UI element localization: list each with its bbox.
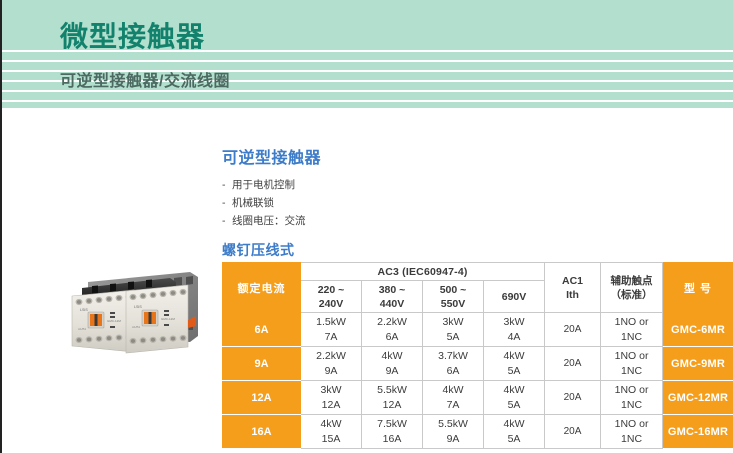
table-row: 16A 4kW 15A 7.5kW 16A 5.5kW 9A 4kW 5A 20 xyxy=(223,415,733,449)
cell-kw: 2.2kW xyxy=(301,349,361,364)
cell-ac3-380: 2.2kW 6A xyxy=(362,313,423,347)
list-item: -线圈电压：交流 xyxy=(222,213,542,229)
svg-text:LSIS: LSIS xyxy=(80,308,88,312)
cell-kw: 1.5kW xyxy=(301,315,361,330)
header-ac3-group: AC3 (IEC60947-4) xyxy=(301,263,545,281)
cell-rated-current: 16A xyxy=(223,415,301,449)
cell-ac3-500: 5.5kW 9A xyxy=(423,415,484,449)
svg-text:A1/B1: A1/B1 xyxy=(78,327,87,331)
cell-ac3-220: 4kW 15A xyxy=(301,415,362,449)
product-description-block: 可逆型接触器 -用于电机控制 -机械联锁 -线圈电压：交流 xyxy=(222,148,542,231)
cell-ac1: 20A xyxy=(545,313,601,347)
svg-text:LSIS: LSIS xyxy=(134,305,142,309)
cell-ac1: 20A xyxy=(545,381,601,415)
cell-kw: 3.7kW xyxy=(423,349,483,364)
header-ac1-line1: AC1 xyxy=(545,274,600,288)
cell-amp: 7A xyxy=(301,330,361,345)
header-model: 型 号 xyxy=(663,263,733,313)
header-ac1: AC1 Ith xyxy=(545,263,601,313)
bullet-dash-icon: - xyxy=(222,177,232,193)
cell-ac3-220: 1.5kW 7A xyxy=(301,313,362,347)
cell-model: GMC-16MR xyxy=(663,415,733,449)
page-subtitle: 可逆型接触器/交流线圈 xyxy=(60,71,230,93)
cell-kw: 4kW xyxy=(423,383,483,398)
svg-text:A1/B1: A1/B1 xyxy=(132,325,141,329)
table-section-heading: 螺钉压线式 xyxy=(222,240,295,260)
cell-amp: 5A xyxy=(484,398,544,413)
bullet-dash-icon: - xyxy=(222,213,232,229)
cell-aux-line1: 1NO or xyxy=(601,417,662,432)
cell-amp: 5A xyxy=(423,330,483,345)
cell-kw: 5.5kW xyxy=(362,383,422,398)
cell-kw: 3kW xyxy=(484,315,544,330)
cell-ac3-500: 3kW 5A xyxy=(423,313,484,347)
page-header-band: 微型接触器 可逆型接触器/交流线圈 xyxy=(2,0,733,108)
cell-aux-line2: 1NC xyxy=(601,398,662,413)
contactor-right: LSIS GMC-12M A1/B1 xyxy=(126,285,196,353)
header-v380-line2: 440V xyxy=(362,297,422,311)
header-aux-line2: （标准） xyxy=(601,288,662,302)
cell-ac1: 20A xyxy=(545,415,601,449)
cell-ac3-690: 4kW 5A xyxy=(484,415,545,449)
cell-amp: 9A xyxy=(423,432,483,447)
cell-amp: 6A xyxy=(362,330,422,345)
header-aux-contacts: 辅助触点 （标准） xyxy=(601,263,663,313)
header-voltage-380-440: 380 ~ 440V xyxy=(362,281,423,313)
cell-ac3-690: 4kW 5A xyxy=(484,347,545,381)
header-voltage-690: 690V xyxy=(484,281,545,313)
cell-kw: 2.2kW xyxy=(362,315,422,330)
cell-aux-line2: 1NC xyxy=(601,364,662,379)
svg-text:GMC-12M: GMC-12M xyxy=(161,317,175,321)
cell-ac3-690: 3kW 4A xyxy=(484,313,545,347)
cell-ac3-380: 5.5kW 12A xyxy=(362,381,423,415)
header-v500-line1: 500 ~ xyxy=(423,283,483,297)
section-heading: 可逆型接触器 xyxy=(222,148,542,170)
header-v500-line2: 550V xyxy=(423,297,483,311)
cell-kw: 4kW xyxy=(484,349,544,364)
cell-rated-current: 9A xyxy=(223,347,301,381)
cell-ac3-380: 4kW 9A xyxy=(362,347,423,381)
table-row: 6A 1.5kW 7A 2.2kW 6A 3kW 5A 3kW 4A 20A xyxy=(223,313,733,347)
cell-kw: 3kW xyxy=(301,383,361,398)
cell-amp: 9A xyxy=(301,364,361,379)
cell-aux-line1: 1NO or xyxy=(601,349,662,364)
cell-amp: 15A xyxy=(301,432,361,447)
left-edge-rule xyxy=(0,0,2,453)
cell-kw: 4kW xyxy=(484,417,544,432)
cell-amp: 7A xyxy=(423,398,483,413)
cell-kw: 4kW xyxy=(362,349,422,364)
cell-rated-current: 12A xyxy=(223,381,301,415)
cell-aux-contacts: 1NO or 1NC xyxy=(601,347,663,381)
cell-amp: 6A xyxy=(423,364,483,379)
cell-amp: 16A xyxy=(362,432,422,447)
cell-kw: 4kW xyxy=(484,383,544,398)
cell-kw: 4kW xyxy=(301,417,361,432)
contactor-left: LSIS GMC-12M A1/B1 xyxy=(72,290,134,352)
specification-table: 额定电流 AC3 (IEC60947-4) AC1 Ith 辅助触点 （标准） … xyxy=(222,262,733,449)
table-row: 9A 2.2kW 9A 4kW 9A 3.7kW 6A 4kW 5A 20A xyxy=(223,347,733,381)
cell-amp: 5A xyxy=(484,432,544,447)
cell-aux-line1: 1NO or xyxy=(601,383,662,398)
cell-aux-contacts: 1NO or 1NC xyxy=(601,415,663,449)
table-header: 额定电流 AC3 (IEC60947-4) AC1 Ith 辅助触点 （标准） … xyxy=(223,263,733,313)
table-header-row-top: 额定电流 AC3 (IEC60947-4) AC1 Ith 辅助触点 （标准） … xyxy=(223,263,733,281)
cell-ac3-220: 3kW 12A xyxy=(301,381,362,415)
cell-amp: 4A xyxy=(484,330,544,345)
cell-model: GMC-9MR xyxy=(663,347,733,381)
cell-aux-line1: 1NO or xyxy=(601,315,662,330)
cell-amp: 9A xyxy=(362,364,422,379)
list-item-label: 用于电机控制 xyxy=(232,179,295,191)
cell-ac3-500: 4kW 7A xyxy=(423,381,484,415)
cell-amp: 12A xyxy=(301,398,361,413)
page-title: 微型接触器 xyxy=(60,20,205,54)
header-v380-line1: 380 ~ xyxy=(362,283,422,297)
header-voltage-220-240: 220 ~ 240V xyxy=(301,281,362,313)
cell-ac3-220: 2.2kW 9A xyxy=(301,347,362,381)
cell-kw: 3kW xyxy=(423,315,483,330)
header-voltage-500-550: 500 ~ 550V xyxy=(423,281,484,313)
product-photo: LSIS GMC-12M A1/B1 xyxy=(66,266,218,358)
cell-model: GMC-12MR xyxy=(663,381,733,415)
cell-model: GMC-6MR xyxy=(663,313,733,347)
header-v220-line2: 240V xyxy=(301,297,361,311)
header-ac1-line2: Ith xyxy=(545,288,600,302)
header-rated-current: 额定电流 xyxy=(223,263,301,313)
cell-amp: 5A xyxy=(484,364,544,379)
cell-ac3-380: 7.5kW 16A xyxy=(362,415,423,449)
list-item: -用于电机控制 xyxy=(222,177,542,193)
header-aux-line1: 辅助触点 xyxy=(601,274,662,288)
page-root: 微型接触器 可逆型接触器/交流线圈 可逆型接触器 -用于电机控制 -机械联锁 -… xyxy=(0,0,733,453)
list-item-label: 机械联锁 xyxy=(232,197,274,209)
list-item-label: 线圈电压：交流 xyxy=(232,215,306,227)
cell-kw: 5.5kW xyxy=(423,417,483,432)
cell-ac1: 20A xyxy=(545,347,601,381)
list-item: -机械联锁 xyxy=(222,195,542,211)
feature-list: -用于电机控制 -机械联锁 -线圈电压：交流 xyxy=(222,177,542,229)
table-row: 12A 3kW 12A 5.5kW 12A 4kW 7A 4kW 5A 20A xyxy=(223,381,733,415)
svg-text:GMC-12M: GMC-12M xyxy=(107,319,121,323)
cell-aux-contacts: 1NO or 1NC xyxy=(601,381,663,415)
bullet-dash-icon: - xyxy=(222,195,232,211)
cell-kw: 7.5kW xyxy=(362,417,422,432)
cell-ac3-500: 3.7kW 6A xyxy=(423,347,484,381)
table-body: 6A 1.5kW 7A 2.2kW 6A 3kW 5A 3kW 4A 20A xyxy=(223,313,733,449)
cell-aux-contacts: 1NO or 1NC xyxy=(601,313,663,347)
cell-amp: 12A xyxy=(362,398,422,413)
cell-rated-current: 6A xyxy=(223,313,301,347)
cell-aux-line2: 1NC xyxy=(601,432,662,447)
cell-aux-line2: 1NC xyxy=(601,330,662,345)
cell-ac3-690: 4kW 5A xyxy=(484,381,545,415)
header-v220-line1: 220 ~ xyxy=(301,283,361,297)
